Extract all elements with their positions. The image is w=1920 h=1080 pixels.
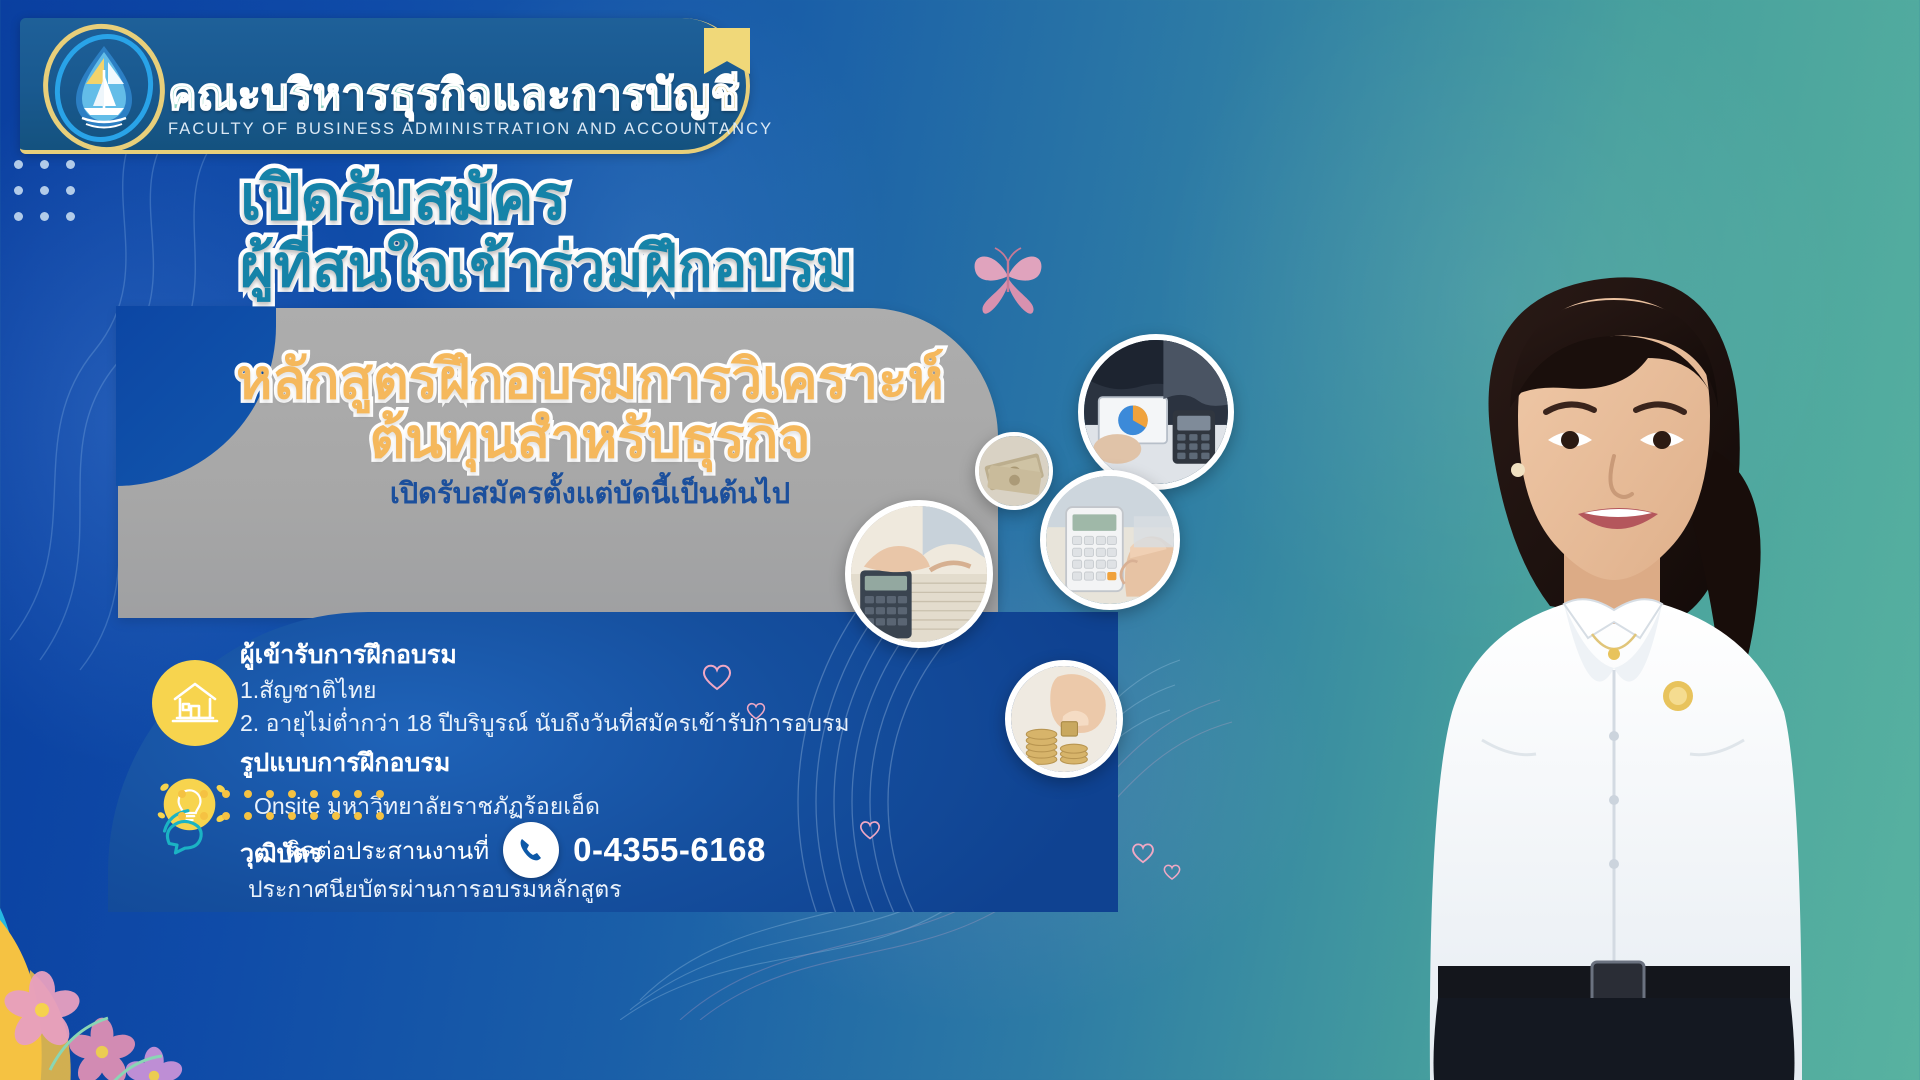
phone-icon: [503, 822, 559, 878]
main-headline: เปิดรับสมัคร ผู้ที่สนใจเข้าร่วมฝึกอบรม: [240, 168, 854, 296]
info-heading-format: รูปแบบการฝึกอบรม: [240, 746, 1000, 782]
photo-calculator-hand: [1040, 470, 1180, 610]
course-title-line-2: ต้นทุนสำหรับธุรกิจ: [180, 409, 1000, 468]
photo-tablet-chart-analysis: [1078, 334, 1234, 490]
headline-line-1: เปิดรับสมัคร: [240, 168, 854, 230]
headline-line-2: ผู้ที่สนใจเข้าร่วมฝึกอบรม: [240, 238, 854, 296]
faculty-logo: [38, 22, 170, 154]
info-section-participants: ผู้เข้ารับการฝึกอบรม 1.สัญชาติไทย 2. อาย…: [240, 638, 1000, 740]
photo-accounting-ledger: [845, 500, 993, 648]
faculty-name-th: คณะบริหารธุรกิจและการบัญชี: [168, 60, 740, 128]
heart-icon: [1162, 862, 1182, 882]
photo-cash-banknotes: [975, 432, 1053, 510]
course-subtitle: เปิดรับสมัครตั้งแต่บัดนี้เป็นต้นไป: [180, 470, 1000, 516]
info-line-participants-1: 1.สัญชาติไทย: [240, 674, 1000, 707]
course-title-line-1: หลักสูตรฝึกอบรมการวิเคราะห์: [180, 350, 1000, 409]
photo-coins-stack-hand: [1005, 660, 1123, 778]
faculty-name-th-tail: ญชี: [674, 71, 741, 119]
faculty-name-en: FACULTY OF BUSINESS ADMINISTRATION AND A…: [168, 120, 773, 139]
info-line-participants-2: 2. อายุไม่ต่ำกว่า 18 ปีบริบูรณ์ นับถึงวั…: [240, 707, 1000, 740]
woman-student-photo: [1378, 180, 1848, 1080]
faculty-name-th-main: คณะบริหารธุรกิจและการบั: [168, 71, 674, 119]
info-heading-participants: ผู้เข้ารับการฝึกอบรม: [240, 638, 1000, 674]
course-title: หลักสูตรฝึกอบรมการวิเคราะห์ ต้นทุนสำหรับ…: [180, 350, 1000, 469]
contact-block: ติดต่อประสานงานที่ 0-4355-6168: [285, 822, 766, 878]
butterfly-icon: [965, 232, 1051, 318]
decor-dot-grid-topleft: [14, 160, 92, 238]
house-icon: [152, 660, 238, 746]
contact-label: ติดต่อประสานงานที่: [285, 831, 489, 870]
heart-icon: [1130, 840, 1156, 866]
contact-phone-number: 0-4355-6168: [573, 831, 766, 869]
